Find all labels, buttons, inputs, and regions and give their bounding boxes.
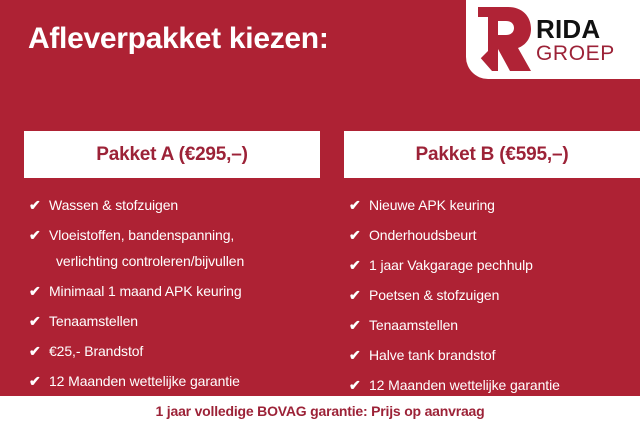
feature-label: Onderhoudsbeurt [369, 222, 476, 248]
feature-label-line1: Vloeistoffen, bandenspanning, [49, 227, 234, 243]
feature-label: Nieuwe APK keuring [369, 192, 495, 218]
feature-label: Minimaal 1 maand APK keuring [49, 278, 242, 304]
feature-label: 12 Maanden wettelijke garantie [49, 368, 240, 394]
list-item: ✔ Tenaamstellen [29, 308, 320, 334]
feature-label: Poetsen & stofzuigen [369, 282, 499, 308]
feature-label: Tenaamstellen [49, 308, 138, 334]
check-icon: ✔ [29, 192, 49, 218]
list-item: ✔ 12 Maanden wettelijke garantie [349, 372, 640, 398]
list-item: ✔ Halve tank brandstof [349, 342, 640, 368]
list-item: ✔ Vloeistoffen, bandenspanning, verlicht… [29, 222, 320, 274]
feature-label: 12 Maanden wettelijke garantie [369, 372, 560, 398]
check-icon: ✔ [349, 282, 369, 308]
package-b-feature-list: ✔ Nieuwe APK keuring ✔ Onderhoudsbeurt ✔… [344, 192, 640, 398]
package-a-title: Pakket A (€295,–) [96, 144, 248, 166]
feature-label-line2: verlichting controleren/bijvullen [49, 248, 244, 274]
brand-wordmark: RIDA GROEP [536, 16, 615, 64]
check-icon: ✔ [349, 252, 369, 278]
rida-r-mark-icon [474, 5, 532, 73]
feature-label: 1 jaar Vakgarage pechhulp [369, 252, 533, 278]
check-icon: ✔ [349, 192, 369, 218]
check-icon: ✔ [29, 222, 49, 248]
list-item: ✔ €25,- Brandstof [29, 338, 320, 364]
check-icon: ✔ [29, 278, 49, 304]
package-card-a[interactable]: Pakket A (€295,–) ✔ Wassen & stofzuigen … [24, 131, 320, 402]
feature-label: Wassen & stofzuigen [49, 192, 178, 218]
feature-label: €25,- Brandstof [49, 338, 143, 364]
page-title: Afleverpakket kiezen: [28, 22, 329, 56]
check-icon: ✔ [29, 338, 49, 364]
footer-banner: 1 jaar volledige BOVAG garantie: Prijs o… [0, 396, 640, 426]
list-item: ✔ Onderhoudsbeurt [349, 222, 640, 248]
brand-name-secondary: GROEP [536, 43, 615, 64]
aflevering-package-poster: { "theme": { "background_red": "#AE2234"… [0, 0, 640, 426]
feature-label: Vloeistoffen, bandenspanning, verlichtin… [49, 222, 244, 274]
check-icon: ✔ [349, 342, 369, 368]
list-item: ✔ 1 jaar Vakgarage pechhulp [349, 252, 640, 278]
list-item: ✔ 12 Maanden wettelijke garantie [29, 368, 320, 394]
list-item: ✔ Minimaal 1 maand APK keuring [29, 278, 320, 304]
package-b-title-box[interactable]: Pakket B (€595,–) [344, 131, 640, 178]
brand-name-primary: RIDA [536, 16, 615, 42]
check-icon: ✔ [349, 372, 369, 398]
check-icon: ✔ [29, 368, 49, 394]
package-columns: Pakket A (€295,–) ✔ Wassen & stofzuigen … [0, 131, 640, 402]
list-item: ✔ Poetsen & stofzuigen [349, 282, 640, 308]
list-item: ✔ Tenaamstellen [349, 312, 640, 338]
package-b-title: Pakket B (€595,–) [416, 144, 569, 166]
package-a-feature-list: ✔ Wassen & stofzuigen ✔ Vloeistoffen, ba… [24, 192, 320, 394]
package-a-title-box[interactable]: Pakket A (€295,–) [24, 131, 320, 178]
check-icon: ✔ [29, 308, 49, 334]
list-item: ✔ Nieuwe APK keuring [349, 192, 640, 218]
footer-text: 1 jaar volledige BOVAG garantie: Prijs o… [156, 403, 485, 419]
feature-label: Halve tank brandstof [369, 342, 495, 368]
check-icon: ✔ [349, 222, 369, 248]
check-icon: ✔ [349, 312, 369, 338]
feature-label: Tenaamstellen [369, 312, 458, 338]
brand-logo: RIDA GROEP [466, 0, 640, 79]
package-card-b[interactable]: Pakket B (€595,–) ✔ Nieuwe APK keuring ✔… [344, 131, 640, 402]
list-item: ✔ Wassen & stofzuigen [29, 192, 320, 218]
header: Afleverpakket kiezen: RIDA GROEP [0, 0, 640, 92]
